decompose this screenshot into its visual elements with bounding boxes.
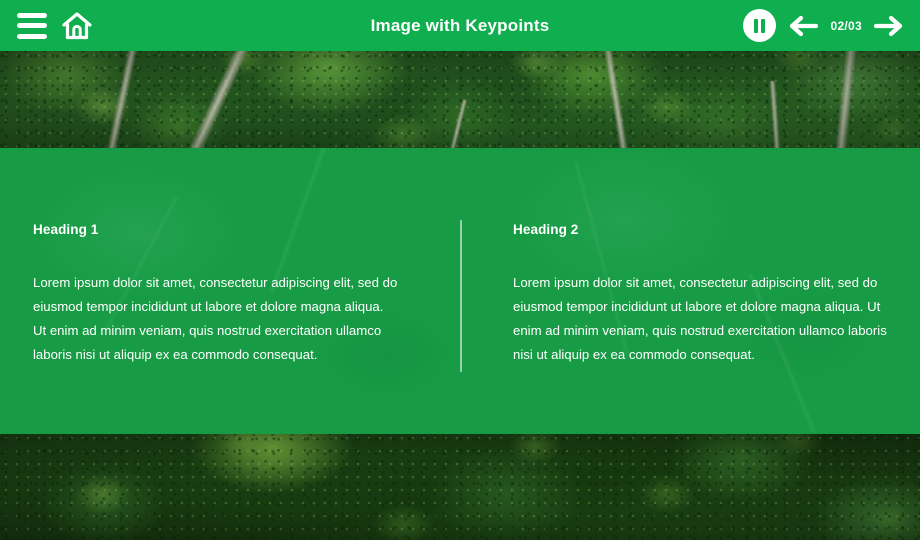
page-counter: 02/03: [830, 19, 862, 33]
hamburger-menu-icon[interactable]: [17, 13, 47, 39]
arrow-left-icon[interactable]: [788, 14, 818, 38]
home-button[interactable]: [61, 11, 93, 41]
slide-root: Heading 1 Lorem ipsum dolor sit amet, co…: [0, 0, 920, 540]
keypoint-heading-1: Heading 1: [33, 222, 400, 237]
home-icon[interactable]: [61, 11, 93, 41]
arrow-right-icon[interactable]: [874, 14, 904, 38]
keypoint-body-2: Lorem ipsum dolor sit amet, consectetur …: [513, 271, 890, 367]
previous-button[interactable]: [788, 14, 818, 38]
keypoint-column-2: Heading 2 Lorem ipsum dolor sit amet, co…: [460, 148, 920, 434]
next-button[interactable]: [874, 14, 904, 38]
keypoint-body-1: Lorem ipsum dolor sit amet, consectetur …: [33, 271, 400, 367]
background-image-bottom: [0, 434, 920, 540]
keypoint-heading-2: Heading 2: [513, 222, 890, 237]
menu-button[interactable]: [17, 13, 47, 39]
column-divider: [460, 220, 462, 372]
pause-icon: [754, 19, 758, 33]
keypoint-column-1: Heading 1 Lorem ipsum dolor sit amet, co…: [0, 148, 460, 434]
background-image-top: [0, 51, 920, 148]
pause-button[interactable]: [743, 9, 776, 42]
top-navigation-bar: Image with Keypoints 02/03: [0, 0, 920, 51]
content-panel: Heading 1 Lorem ipsum dolor sit amet, co…: [0, 148, 920, 434]
